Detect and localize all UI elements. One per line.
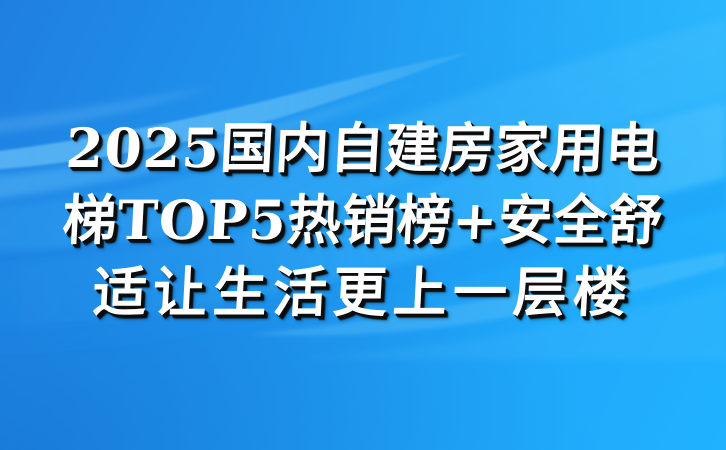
headline-line-1: 2025国内自建房家用电 — [0, 112, 726, 184]
promo-banner: 2025国内自建房家用电 梯TOP5热销榜+安全舒 适让生活更上一层楼 — [0, 0, 726, 450]
headline-line-3: 适让生活更上一层楼 — [0, 256, 726, 328]
headline-line-2: 梯TOP5热销榜+安全舒 — [0, 184, 726, 256]
headline-block: 2025国内自建房家用电 梯TOP5热销榜+安全舒 适让生活更上一层楼 — [0, 112, 726, 328]
